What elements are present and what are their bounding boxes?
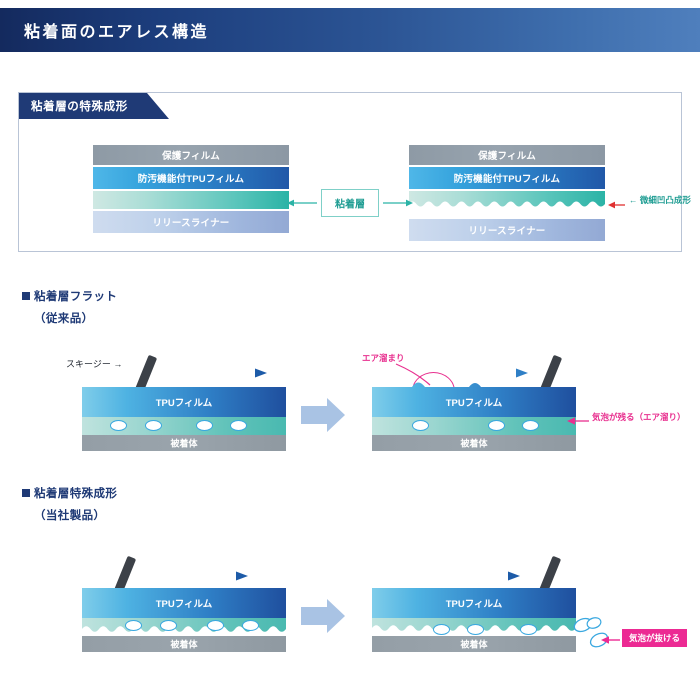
air-bubble (522, 420, 539, 431)
air-bubble (520, 624, 537, 635)
layer-label: リリースライナー (409, 223, 605, 237)
layer-label: 保護フィルム (409, 148, 605, 162)
direction-arrow-4 (420, 570, 520, 582)
bubble-escape-arrow (600, 634, 622, 646)
section1-subheading: （従来品） (34, 310, 94, 326)
section1-heading: 粘着層フラット (22, 288, 117, 304)
layer-tpu-film-right: 防汚機能付TPUフィルム (409, 167, 605, 189)
flow-arrow-1 (301, 396, 345, 434)
air-bubble (145, 420, 162, 431)
panel-tab: 粘着層の特殊成形 (19, 93, 169, 119)
diagram-embossed-before: TPUフィルム 被着体 (82, 588, 286, 652)
air-bubble (467, 624, 484, 635)
substrate-layer: 被着体 (372, 435, 576, 451)
layer-adhesive-wavy-right (409, 191, 605, 213)
uneven-annotation-arrow (607, 199, 627, 211)
layer-protective-film-left: 保護フィルム (93, 145, 289, 165)
diagram-canvas: 粘着面のエアレス構造 粘着層の特殊成形 保護フィルム 防汚機能付TPUフィルム … (0, 0, 700, 700)
air-bubble (125, 620, 142, 631)
page-header: 粘着面のエアレス構造 (0, 8, 700, 52)
bullet-square-icon (22, 292, 30, 300)
bubble-escape-label: 気泡が抜ける (622, 629, 687, 647)
layer-tpu-film-left: 防汚機能付TPUフィルム (93, 167, 289, 189)
air-bubble (196, 420, 213, 431)
air-bubble (230, 420, 247, 431)
diagram-flat-after: TPUフィルム 被着体 (372, 387, 576, 451)
air-bubble (412, 420, 429, 431)
squeegee-label: スキージー → (66, 357, 122, 370)
substrate-label: 被着体 (82, 437, 286, 450)
tpu-film-layer: TPUフィルム (82, 588, 286, 618)
tpu-film-label: TPUフィルム (372, 596, 576, 610)
uneven-annotation-label: ← 微細凹凸成形 (629, 194, 691, 206)
layer-adhesive-left (93, 191, 289, 209)
panel-tab-label: 粘着層の特殊成形 (31, 98, 128, 114)
layer-release-liner-right: リリースライナー (409, 219, 605, 241)
stack-left-flat: 保護フィルム 防汚機能付TPUフィルム リリースライナー (93, 145, 289, 233)
bullet-square-icon (22, 489, 30, 497)
tpu-film-label: TPUフィルム (82, 395, 286, 409)
air-bubble (488, 420, 505, 431)
air-bubble (110, 420, 127, 431)
substrate-layer: 被着体 (82, 636, 286, 652)
diagram-embossed-after: TPUフィルム 被着体 (372, 588, 576, 652)
direction-arrow-1 (167, 367, 267, 379)
section2-heading-text: 粘着層特殊成形 (34, 488, 117, 500)
adhesive-structure-panel: 粘着層の特殊成形 保護フィルム 防汚機能付TPUフィルム リリースライナー 保護… (18, 92, 682, 252)
diagram-flat-before: TPUフィルム 被着体 (82, 387, 286, 451)
section2-subheading: （当社製品） (34, 507, 105, 523)
tpu-film-layer: TPUフィルム (372, 588, 576, 618)
tpu-film-label-holder: TPUフィルム (372, 387, 576, 417)
bubble-remain-label: 気泡が残る（エア溜り） (592, 411, 686, 423)
adhesive-layer-callout-label: 粘着層 (322, 196, 378, 211)
layer-label: 防汚機能付TPUフィルム (93, 171, 289, 185)
air-bubble (160, 620, 177, 631)
air-bubble (207, 620, 224, 631)
layer-protective-film-right: 保護フィルム (409, 145, 605, 165)
arrow-left-to-stack (287, 197, 319, 209)
substrate-layer: 被着体 (82, 435, 286, 451)
tpu-film-label: TPUフィルム (372, 395, 576, 409)
air-bubble (242, 620, 259, 631)
stack-right-embossed: 保護フィルム 防汚機能付TPUフィルム (409, 145, 605, 241)
bubble-remain-arrow (565, 415, 591, 427)
substrate-layer: 被着体 (372, 636, 576, 652)
substrate-label: 被着体 (372, 638, 576, 651)
layer-release-liner-left: リリースライナー (93, 211, 289, 233)
wavy-adhesive-shape (409, 191, 605, 213)
direction-arrow-3 (148, 570, 248, 582)
arrow-right-to-stack (381, 197, 413, 209)
tpu-film-layer: TPUフィルム (82, 387, 286, 417)
substrate-label: 被着体 (372, 437, 576, 450)
layer-label: 防汚機能付TPUフィルム (409, 171, 605, 185)
flow-arrow-2 (301, 597, 345, 635)
section2-heading: 粘着層特殊成形 (22, 485, 117, 501)
adhesive-layer-callout: 粘着層 (321, 189, 379, 217)
section1-heading-text: 粘着層フラット (34, 291, 117, 303)
layer-label: リリースライナー (93, 215, 289, 229)
page-title: 粘着面のエアレス構造 (24, 18, 209, 42)
tpu-film-label: TPUフィルム (82, 596, 286, 610)
layer-label: 保護フィルム (93, 148, 289, 162)
air-bubble (433, 624, 450, 635)
adhesive-layer (372, 417, 576, 435)
substrate-label: 被着体 (82, 638, 286, 651)
